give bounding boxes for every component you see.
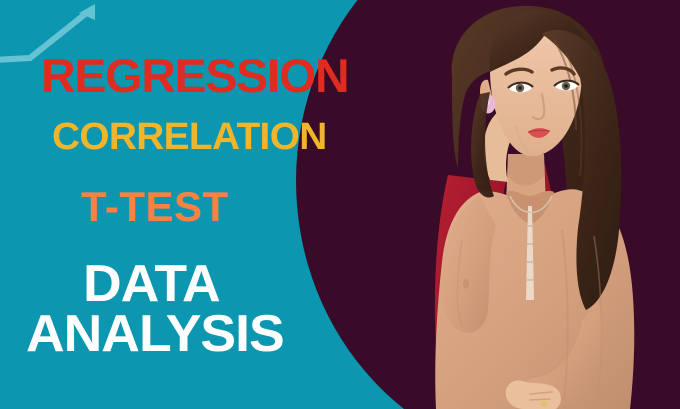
headline-correlation: CORRELATION [52, 118, 327, 156]
poster-canvas: REGRESSION CORRELATION T-TEST DATA ANALY… [0, 0, 680, 409]
headline-ttest: T-TEST [81, 186, 229, 228]
headline-data: DATA [83, 258, 220, 310]
headline-regression: REGRESSION [41, 52, 348, 99]
model-photo [330, 0, 680, 409]
headline-analysis: ANALYSIS [26, 308, 284, 360]
